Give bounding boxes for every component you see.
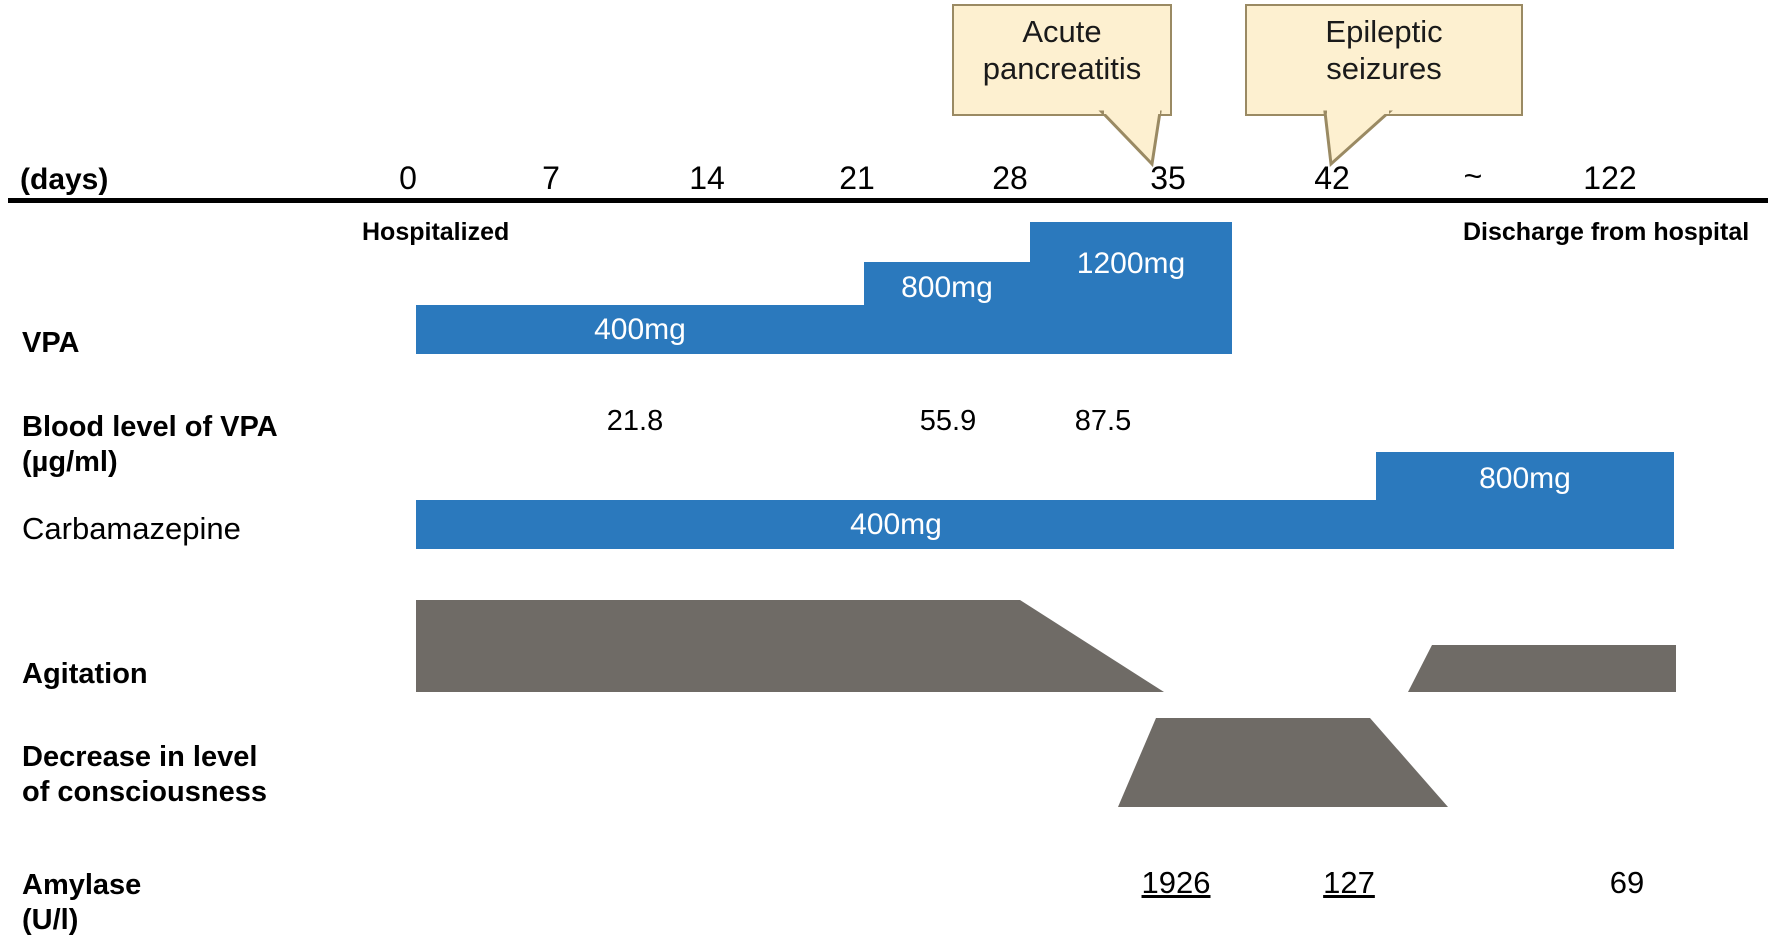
- vpa-bar-1200mg: 1200mg: [1030, 222, 1232, 354]
- row-label-decrease-consciousness: Decrease in level of consciousness: [22, 740, 267, 811]
- vpa-bar-400mg: 400mg: [416, 305, 864, 354]
- blood-level-value-1: 21.8: [590, 405, 680, 438]
- row-label-carbamazepine: Carbamazepine: [22, 510, 241, 548]
- amylase-value-3: 69: [1590, 865, 1664, 901]
- axis-tick-21: 21: [834, 160, 880, 197]
- vpa-bar-400mg-label: 400mg: [594, 313, 686, 347]
- axis-tick-28: 28: [987, 160, 1033, 197]
- vpa-bar-1200mg-label: 1200mg: [1077, 247, 1185, 281]
- vpa-bar-800mg: 800mg: [864, 262, 1030, 354]
- axis-tick-14: 14: [684, 160, 730, 197]
- blood-level-value-3: 87.5: [1058, 405, 1148, 438]
- blood-level-value-2: 55.9: [903, 405, 993, 438]
- callout-line-2: seizures: [1261, 51, 1507, 88]
- axis-tick-122: 122: [1575, 160, 1645, 197]
- row-label-amylase-line2: (U/l): [22, 903, 141, 938]
- row-label-vpa: VPA: [22, 326, 79, 361]
- axis-tick-0: 0: [388, 160, 428, 197]
- vpa-bar-800mg-label: 800mg: [901, 271, 993, 305]
- amylase-value-1: 1926: [1118, 865, 1234, 901]
- callout-acute-pancreatitis: Acute pancreatitis: [952, 4, 1172, 116]
- row-label-decrease-line2: of consciousness: [22, 775, 267, 810]
- callout-epileptic-seizures: Epileptic seizures: [1245, 4, 1523, 116]
- row-label-amylase-line1: Amylase: [22, 868, 141, 903]
- agitation-shape-secondary: [1380, 645, 1676, 692]
- row-label-agitation: Agitation: [22, 657, 148, 692]
- carbamazepine-bar-400mg-label: 400mg: [850, 508, 942, 542]
- callout-line-2: pancreatitis: [968, 51, 1156, 88]
- axis-unit-label: (days): [20, 163, 108, 197]
- axis-tick-42: 42: [1309, 160, 1355, 197]
- row-label-blood-level-vpa: Blood level of VPA (µg/ml): [22, 410, 278, 481]
- axis-tick-break: ~: [1450, 158, 1496, 195]
- callout-line-1: Epileptic: [1261, 14, 1507, 51]
- row-label-blood-level-line2: (µg/ml): [22, 445, 278, 480]
- decrease-consciousness-shape: [1118, 718, 1448, 807]
- callout-tail-epileptic-seizures: [1303, 112, 1403, 164]
- row-label-decrease-line1: Decrease in level: [22, 740, 267, 775]
- axis-tick-35: 35: [1145, 160, 1191, 197]
- amylase-value-2: 127: [1300, 865, 1398, 901]
- axis-tick-7: 7: [531, 160, 571, 197]
- carbamazepine-bar-800mg: 800mg: [1376, 452, 1674, 549]
- carbamazepine-bar-800mg-label: 800mg: [1479, 462, 1571, 496]
- event-label-discharge: Discharge from hospital: [1463, 218, 1749, 247]
- timeline-diagram: Acute pancreatitis Epileptic seizures (d…: [0, 0, 1772, 946]
- callout-line-1: Acute: [968, 14, 1156, 51]
- event-label-hospitalized: Hospitalized: [362, 218, 509, 247]
- timeline-axis: [8, 198, 1768, 203]
- callout-tail-acute-pancreatitis: [1102, 112, 1182, 164]
- row-label-amylase: Amylase (U/l): [22, 868, 141, 939]
- row-label-blood-level-line1: Blood level of VPA: [22, 410, 278, 445]
- agitation-shape-primary: [416, 600, 1228, 692]
- carbamazepine-bar-400mg: 400mg: [416, 500, 1376, 549]
